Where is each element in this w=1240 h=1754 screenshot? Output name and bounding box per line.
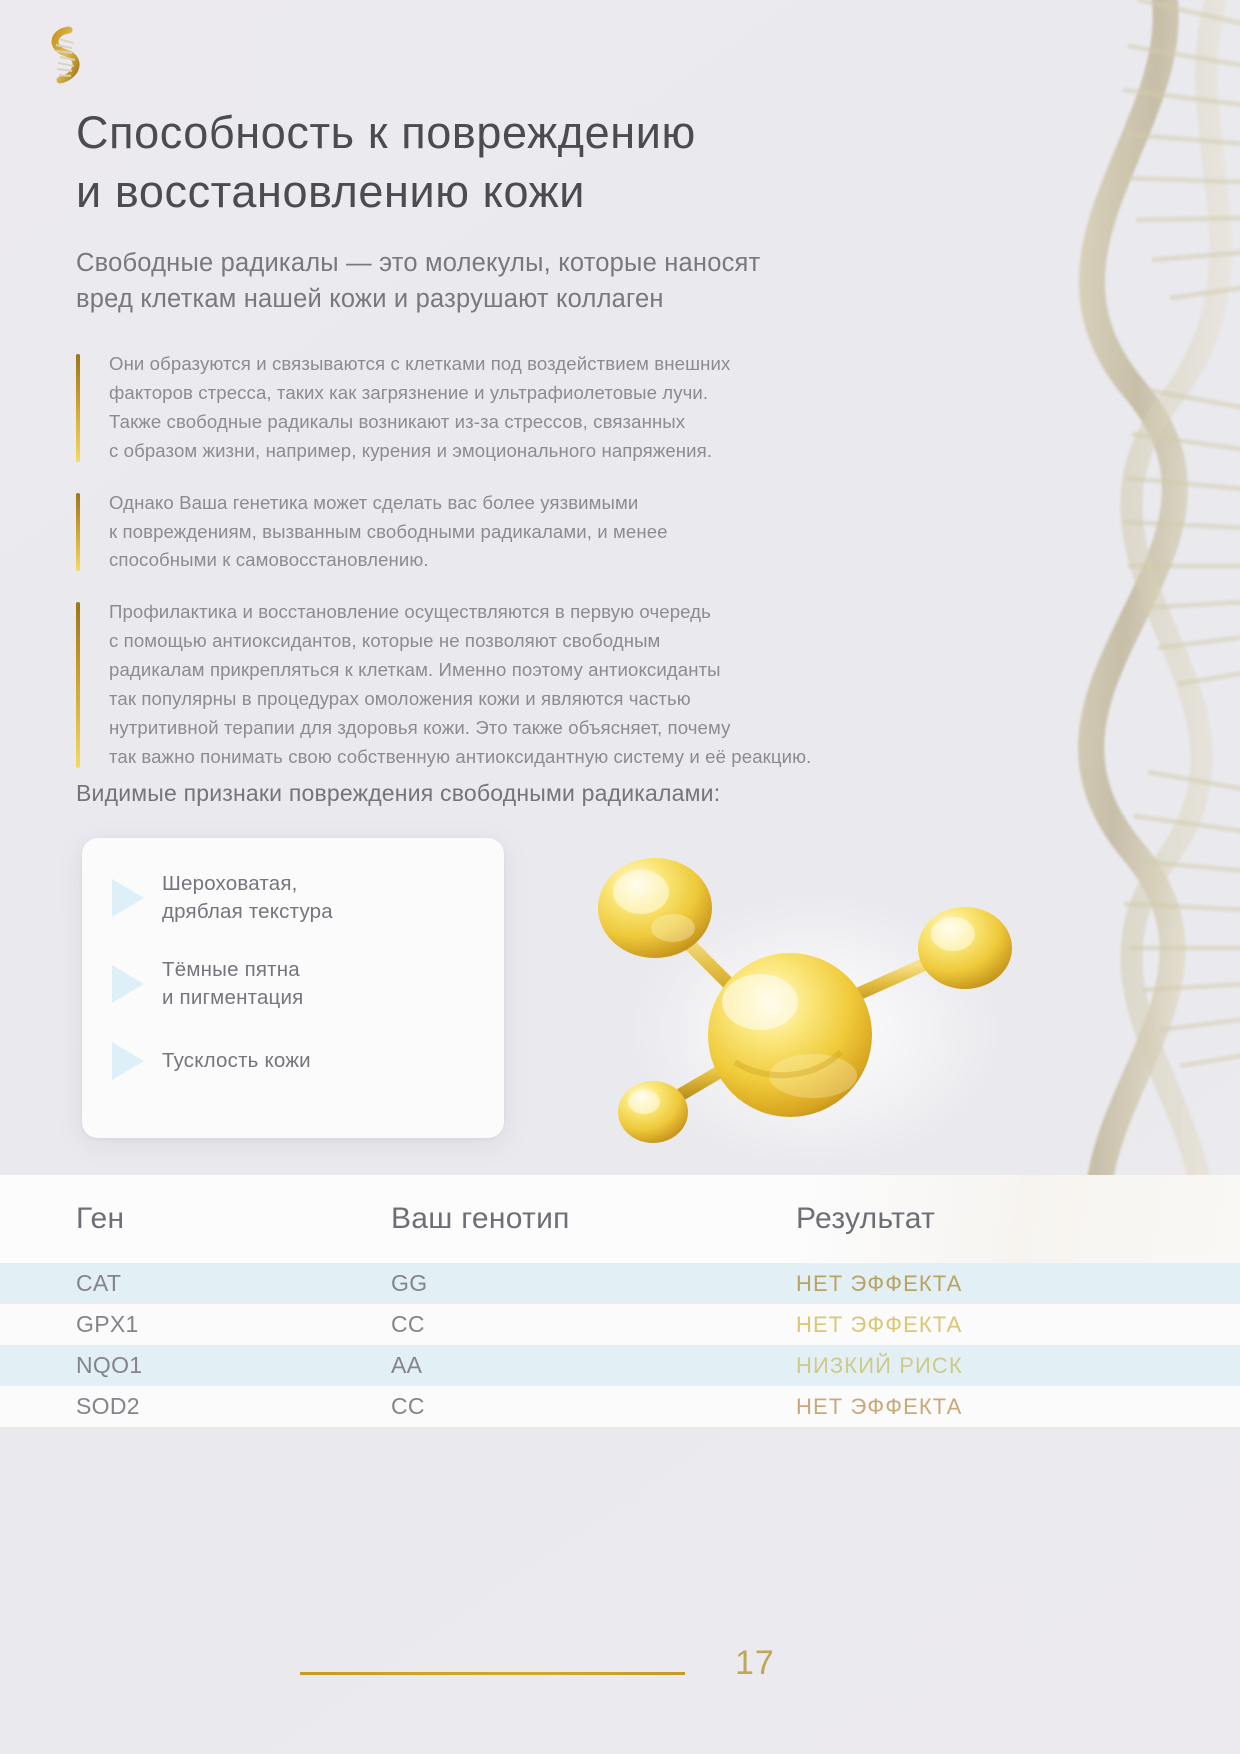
table-row: GPX1 CC НЕТ ЭФФЕКТА	[0, 1304, 1240, 1345]
column-header-result: Результат	[796, 1202, 1240, 1236]
cell-gene: CAT	[76, 1270, 391, 1297]
list-item: Тусклость кожи	[112, 1042, 311, 1080]
gold-accent-bar	[76, 354, 80, 462]
table-row: NQO1 AA НИЗКИЙ РИСК	[0, 1345, 1240, 1386]
visible-signs-card: Шероховатая, дряблая текстура Тёмные пят…	[82, 838, 504, 1138]
page-number: 17	[735, 1644, 775, 1683]
illustration-glow	[555, 840, 1075, 1220]
triangle-right-icon	[112, 965, 144, 1003]
genotype-results-table: Ген Ваш генотип Результат CAT GG НЕТ ЭФФ…	[0, 1175, 1240, 1427]
list-item: Тёмные пятна и пигментация	[112, 956, 303, 1013]
cell-result: НИЗКИЙ РИСК	[796, 1353, 1240, 1379]
cell-result: НЕТ ЭФФЕКТА	[796, 1312, 1240, 1338]
body-paragraphs: Они образуются и связываются с клетками …	[76, 350, 941, 772]
cell-genotype: GG	[391, 1270, 796, 1297]
gold-molecule-icon	[545, 830, 1065, 1160]
cell-genotype: AA	[391, 1352, 796, 1379]
cell-genotype: CC	[391, 1393, 796, 1420]
gold-accent-bar	[76, 493, 80, 572]
cell-result: НЕТ ЭФФЕКТА	[796, 1394, 1240, 1420]
paragraph-text: Они образуются и связываются с клетками …	[109, 350, 941, 466]
dna-helix-icon	[36, 22, 90, 92]
paragraph-block: Профилактика и восстановление осуществля…	[76, 598, 941, 771]
table-row: SOD2 CC НЕТ ЭФФЕКТА	[0, 1386, 1240, 1427]
paragraph-text: Однако Ваша генетика может сделать вас б…	[109, 489, 941, 576]
list-item-label: Шероховатая, дряблая текстура	[162, 870, 333, 927]
page-canvas: Способность к повреждению и восстановлен…	[0, 0, 1240, 1754]
table-row: CAT GG НЕТ ЭФФЕКТА	[0, 1263, 1240, 1304]
list-item-label: Тёмные пятна и пигментация	[162, 956, 303, 1013]
page-subtitle: Свободные радикалы — это молекулы, котор…	[76, 245, 956, 317]
footer-divider	[300, 1672, 685, 1675]
column-header-gene: Ген	[76, 1202, 391, 1236]
cell-result: НЕТ ЭФФЕКТА	[796, 1271, 1240, 1297]
paragraph-block: Однако Ваша генетика может сделать вас б…	[76, 489, 941, 576]
table-header-row: Ген Ваш генотип Результат	[0, 1175, 1240, 1263]
page-title: Способность к повреждению и восстановлен…	[76, 103, 956, 222]
cell-gene: GPX1	[76, 1311, 391, 1338]
paragraph-block: Они образуются и связываются с клетками …	[76, 350, 941, 466]
signs-heading: Видимые признаки повреждения свободными …	[76, 778, 976, 809]
cell-gene: SOD2	[76, 1393, 391, 1420]
triangle-right-icon	[112, 1042, 144, 1080]
paragraph-text: Профилактика и восстановление осуществля…	[109, 598, 941, 771]
cell-genotype: CC	[391, 1311, 796, 1338]
column-header-genotype: Ваш генотип	[391, 1202, 796, 1236]
cell-gene: NQO1	[76, 1352, 391, 1379]
gold-accent-bar	[76, 602, 80, 767]
triangle-right-icon	[112, 879, 144, 917]
list-item: Шероховатая, дряблая текстура	[112, 870, 333, 927]
list-item-label: Тусклость кожи	[162, 1047, 311, 1075]
